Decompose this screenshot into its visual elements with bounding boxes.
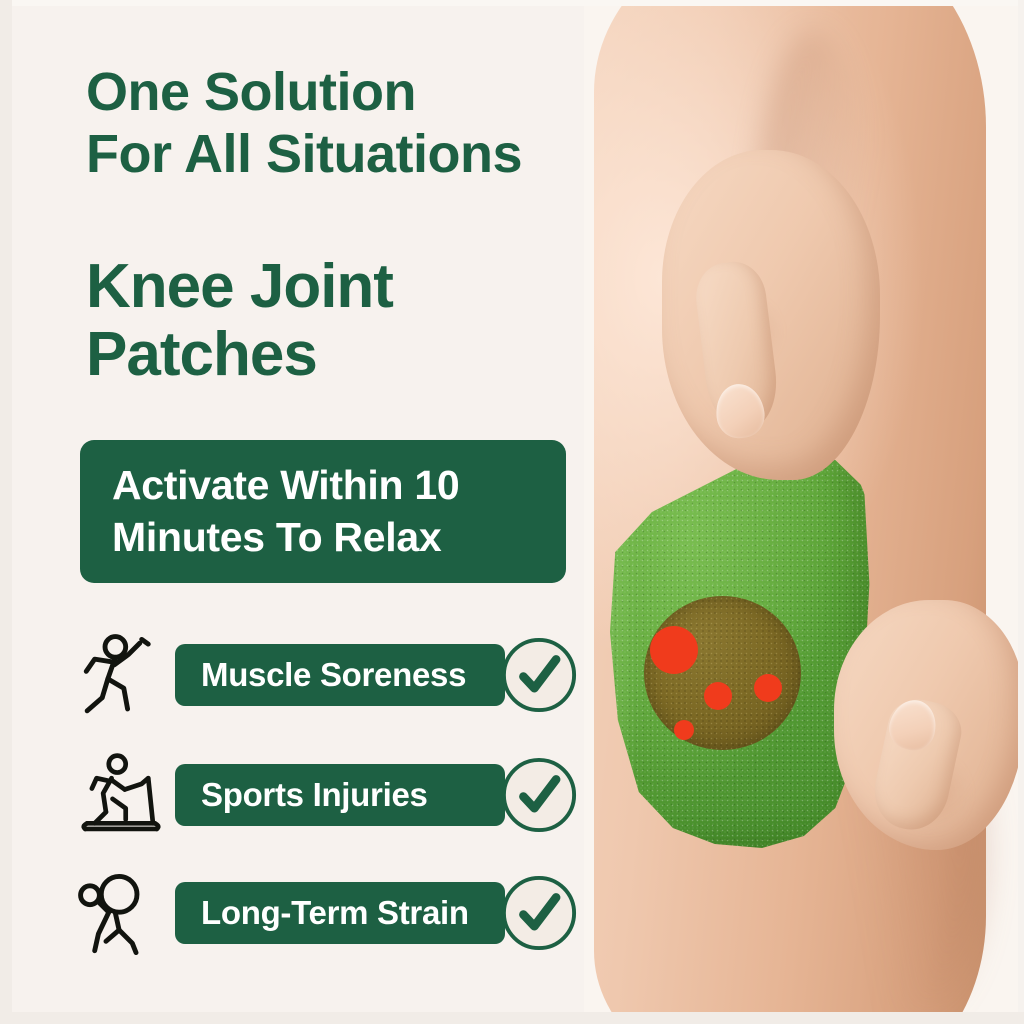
promo-banner: Activate Within 10 Minutes To Relax — [80, 440, 566, 583]
content-column: One Solution For All Situations Knee Joi… — [0, 0, 620, 1024]
benefit-label: Muscle Soreness — [201, 656, 466, 694]
benefit-row: Sports Injuries — [70, 746, 590, 846]
patch-dot — [704, 682, 732, 710]
check-circle-icon — [500, 756, 578, 834]
patch-medicated-core — [644, 596, 801, 750]
bending-person-icon — [74, 868, 168, 962]
check-circle-icon — [500, 874, 578, 952]
patch-dot — [650, 626, 698, 674]
patch-dot — [674, 720, 694, 740]
benefit-label: Long-Term Strain — [201, 894, 469, 932]
promo-line-2: Minutes To Relax — [112, 512, 566, 564]
product-title-line-2: Patches — [86, 321, 606, 389]
benefit-label: Sports Injuries — [201, 776, 428, 814]
benefit-pill: Sports Injuries — [175, 764, 505, 826]
product-title: Knee Joint Patches — [86, 253, 606, 389]
running-person-icon — [74, 630, 168, 724]
benefit-row: Long-Term Strain — [70, 864, 590, 964]
headline: One Solution For All Situations — [86, 62, 656, 185]
treadmill-person-icon — [74, 750, 168, 844]
benefit-row: Muscle Soreness — [70, 626, 590, 726]
headline-line-2: For All Situations — [86, 124, 656, 186]
benefit-pill: Long-Term Strain — [175, 882, 505, 944]
benefit-pill: Muscle Soreness — [175, 644, 505, 706]
product-title-line-1: Knee Joint — [86, 252, 393, 321]
product-poster: One Solution For All Situations Knee Joi… — [0, 0, 1024, 1024]
patch-dot — [754, 674, 782, 702]
check-circle-icon — [500, 636, 578, 714]
headline-line-1: One Solution — [86, 62, 416, 122]
promo-line-1: Activate Within 10 — [112, 460, 566, 512]
knee-joint-patch — [610, 448, 872, 848]
